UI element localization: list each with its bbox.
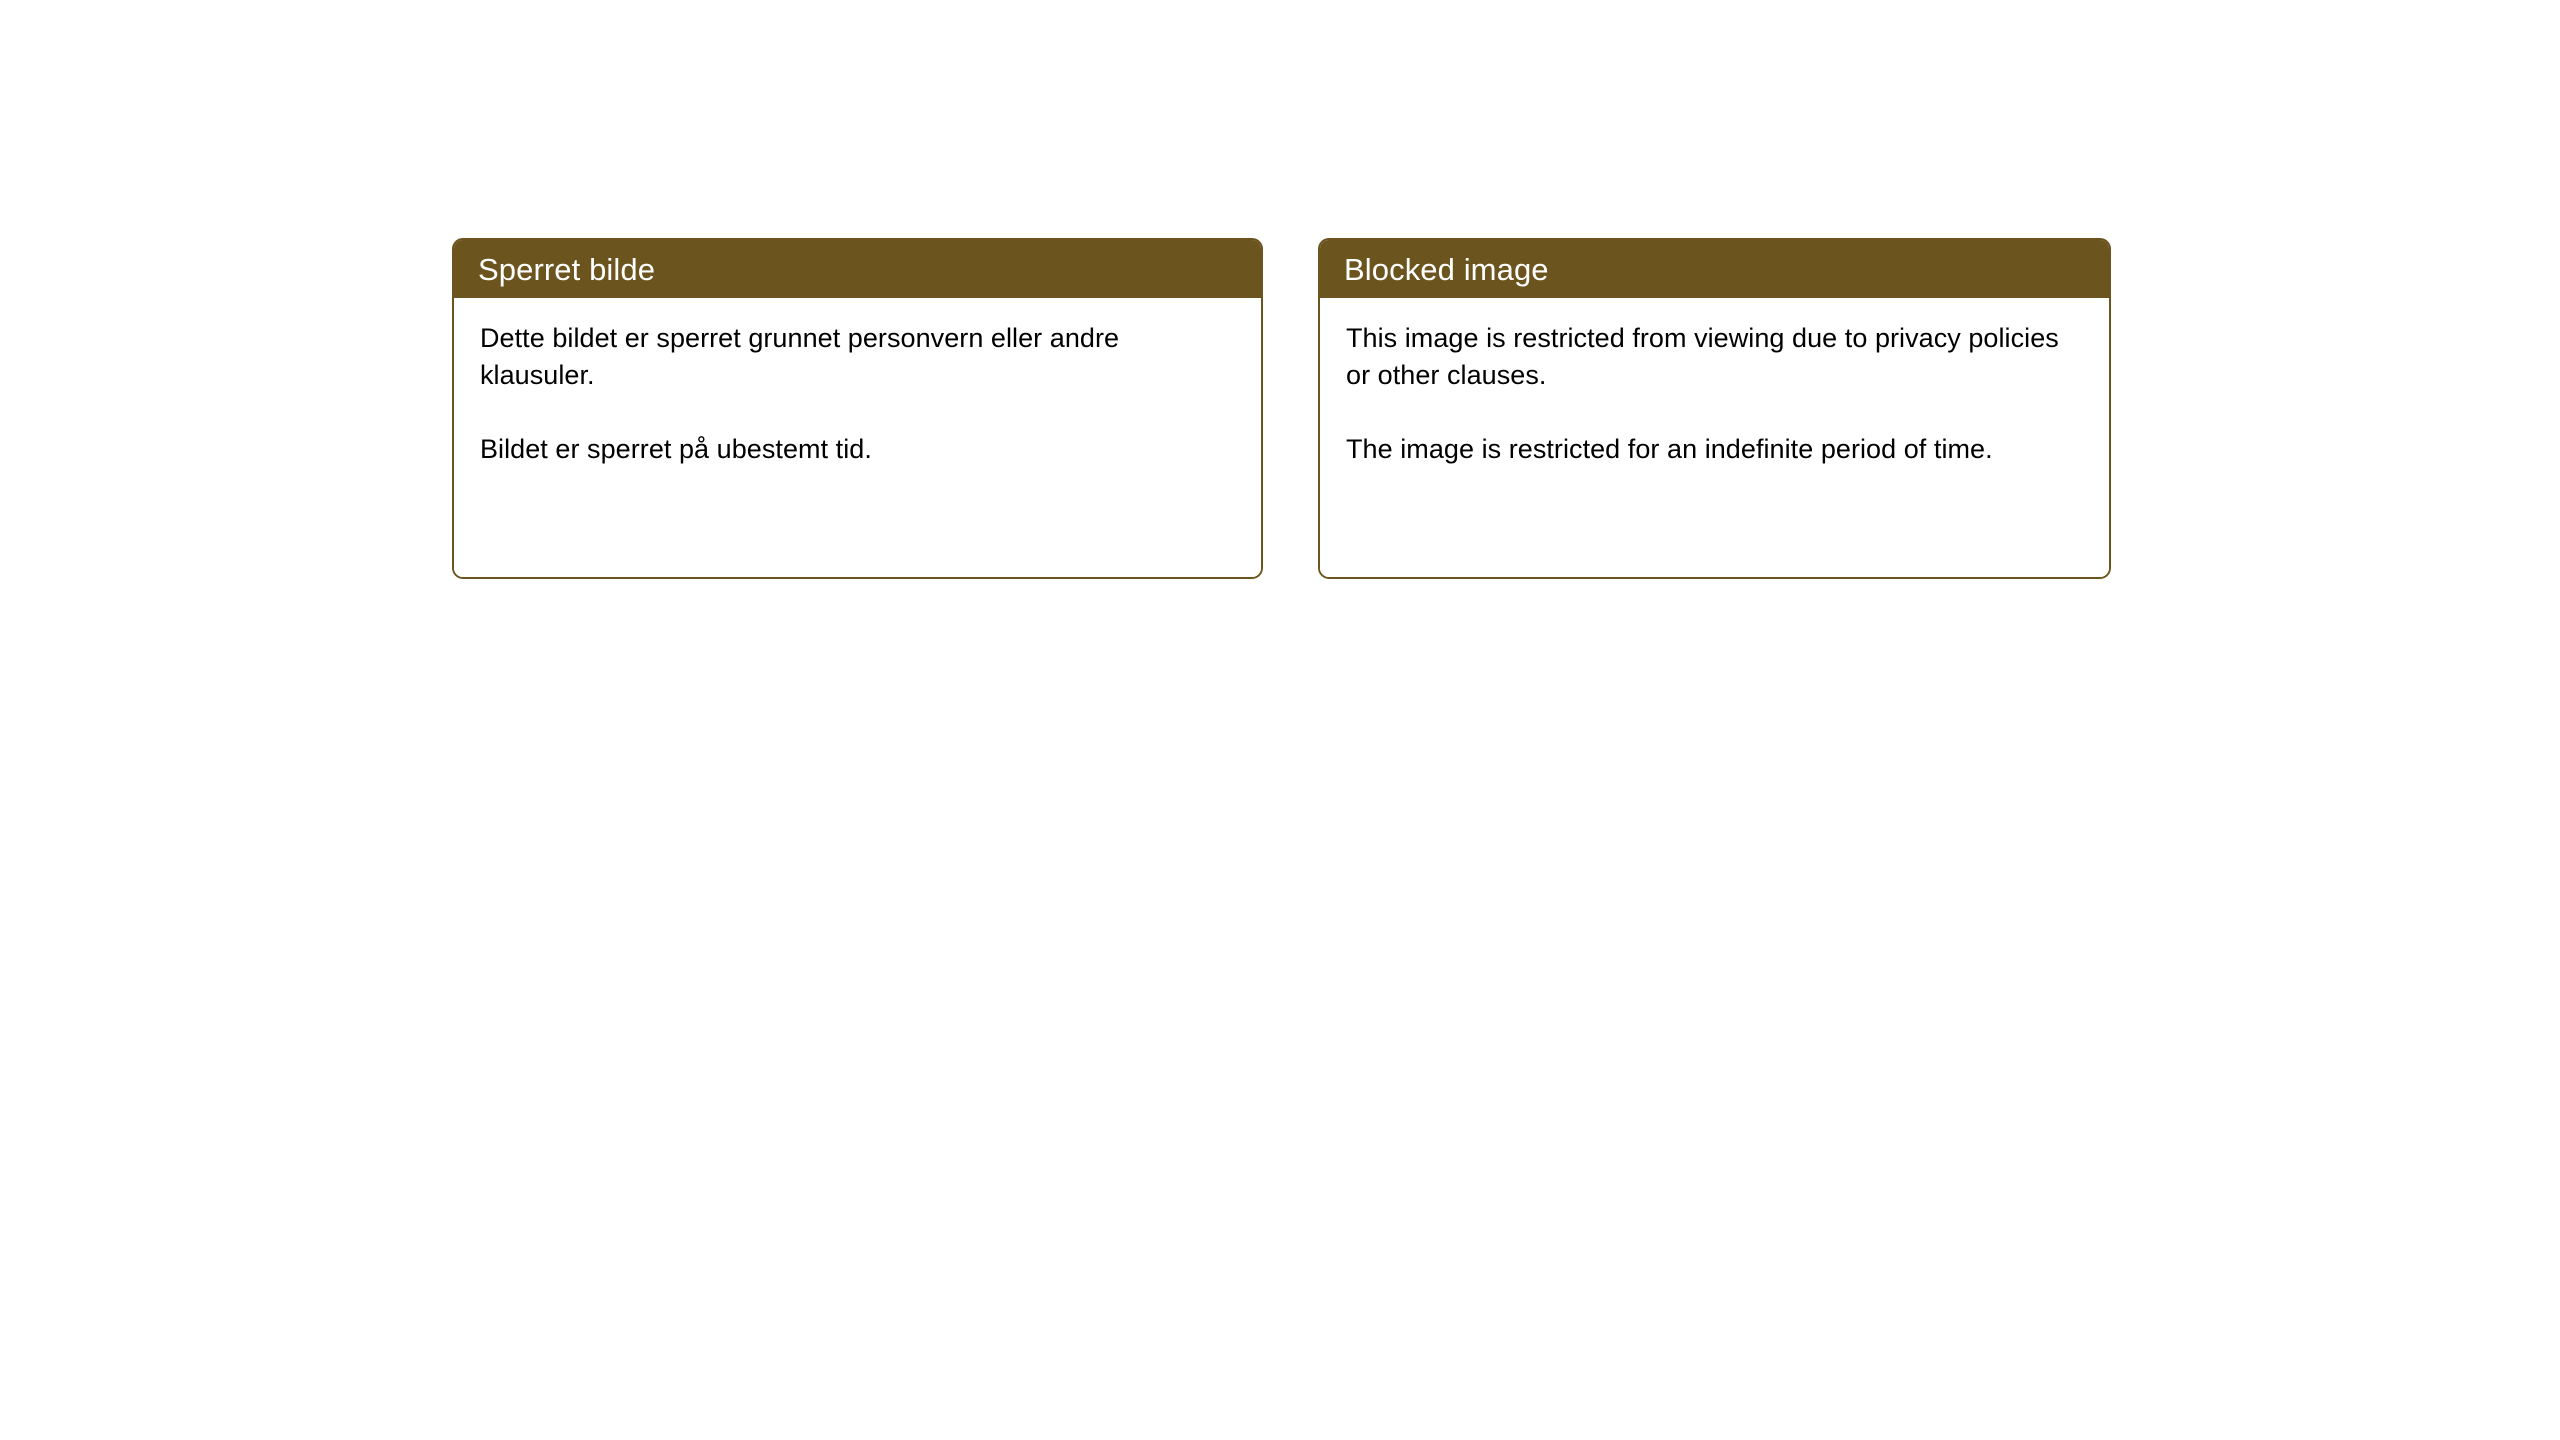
paragraph-spacer	[1346, 394, 2083, 431]
card-body-norwegian: Dette bildet er sperret grunnet personve…	[454, 298, 1261, 577]
blocked-image-notice-card-norwegian: Sperret bilde Dette bildet er sperret gr…	[452, 238, 1263, 579]
page-canvas: Sperret bilde Dette bildet er sperret gr…	[0, 0, 2560, 1440]
card-header-norwegian: Sperret bilde	[454, 240, 1261, 298]
card-paragraph-primary-english: This image is restricted from viewing du…	[1346, 320, 2083, 394]
card-paragraph-primary-norwegian: Dette bildet er sperret grunnet personve…	[480, 320, 1235, 394]
blocked-image-notice-card-english: Blocked image This image is restricted f…	[1318, 238, 2111, 579]
card-header-english: Blocked image	[1320, 240, 2109, 298]
card-body-english: This image is restricted from viewing du…	[1320, 298, 2109, 577]
card-title-english: Blocked image	[1344, 254, 1549, 285]
card-title-norwegian: Sperret bilde	[478, 254, 655, 285]
paragraph-spacer	[480, 394, 1235, 431]
card-paragraph-secondary-english: The image is restricted for an indefinit…	[1346, 431, 2083, 468]
notice-card-row: Sperret bilde Dette bildet er sperret gr…	[452, 238, 2111, 579]
card-paragraph-secondary-norwegian: Bildet er sperret på ubestemt tid.	[480, 431, 1235, 468]
